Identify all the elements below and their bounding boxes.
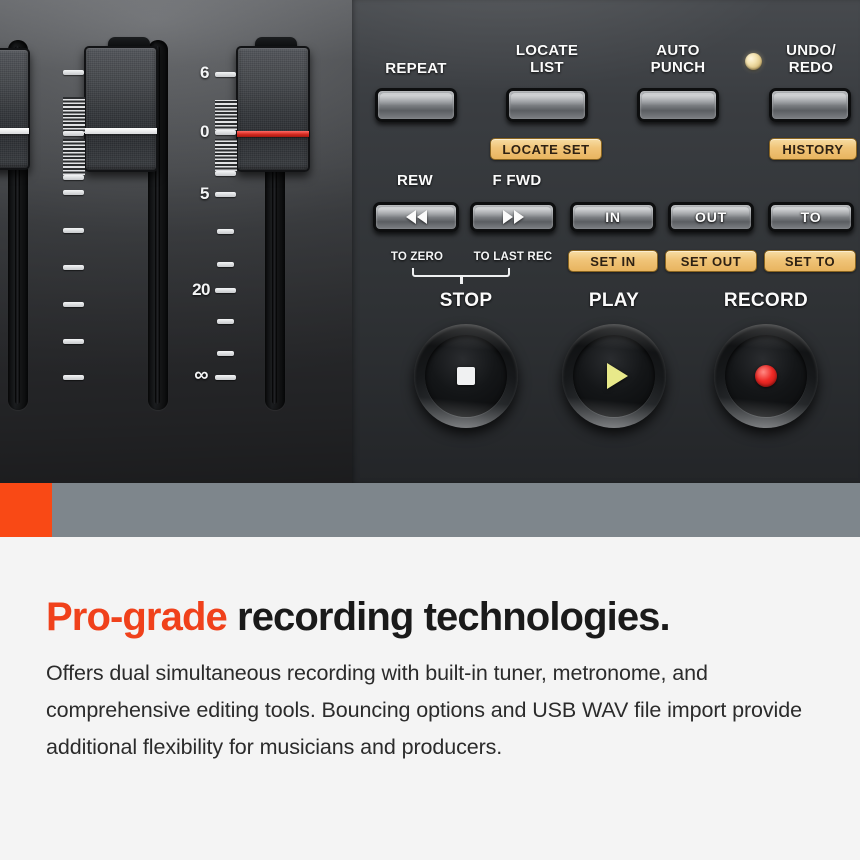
fader-cap-middle[interactable] [84,46,158,172]
fader-tick [217,262,234,267]
button-gloss [774,93,846,105]
undo-redo-label: UNDO/ REDO [764,42,858,76]
auto-punch-label: AUTO PUNCH [626,42,730,76]
fader-scale-label-infinity: ∞ [178,364,208,387]
fader-cap-right[interactable] [236,46,310,172]
fader-tick [217,319,234,324]
fader-cap-texture [87,49,155,169]
play-button[interactable] [562,324,666,428]
fader-index-line-left [0,128,29,134]
undo-redo-led-icon [745,53,762,70]
set-in-tag[interactable]: SET IN [568,250,658,272]
headline-accent: Pro-grade [46,595,227,639]
record-button-inner [725,335,807,417]
fader-tick [63,131,84,136]
to-zero-last-rec-bracket [412,268,510,277]
button-gloss [642,93,714,105]
button-gloss [380,93,452,105]
fader-tick-0 [215,130,236,135]
rew-button[interactable] [373,202,459,232]
fast-forward-icon [473,205,553,229]
fader-hatch-lower [63,139,85,175]
stop-button[interactable] [414,324,518,428]
repeat-button[interactable] [375,88,457,122]
record-icon [755,365,777,387]
fader-cap-texture [0,51,27,167]
fader-tick [63,302,84,307]
fader-index-line-right [237,131,309,137]
fader-tick [217,229,234,234]
undo-redo-button[interactable] [769,88,851,122]
product-photo: 6 0 5 20 ∞ REPEAT LOCATE LIST LOCAT [0,0,860,483]
fader-tick [217,351,234,356]
fader-tick-inf [215,375,236,380]
fader-tick [63,70,84,75]
in-button[interactable]: IN [570,202,656,232]
out-button-text: OUT [671,205,751,229]
fader-tick-5 [215,192,236,197]
stop-icon [457,367,475,385]
fader-tick-20 [215,288,236,293]
to-button-text: TO [771,205,851,229]
locate-set-tag[interactable]: LOCATE SET [490,138,602,160]
ffwd-sub-label: TO LAST REC [463,251,563,263]
stop-label: STOP [418,292,514,309]
play-icon [607,363,628,389]
rew-label: REW [377,172,453,189]
fader-scale-label-5: 5 [185,184,209,204]
accent-band [0,483,860,537]
locate-list-label: LOCATE LIST [495,42,599,76]
record-button[interactable] [714,324,818,428]
record-label: RECORD [706,292,826,309]
accent-band-gray-bar [52,483,860,537]
fader-tick-6 [215,72,236,77]
fader-tick [63,175,84,180]
page-root: 6 0 5 20 ∞ REPEAT LOCATE LIST LOCAT [0,0,860,860]
stop-button-inner [425,335,507,417]
set-out-tag[interactable]: SET OUT [665,250,757,272]
fader-index-line-middle [85,128,157,134]
fader-tick [63,265,84,270]
fader-tick [215,171,236,176]
locate-list-button[interactable] [506,88,588,122]
fader-scale-label-0: 0 [185,122,209,142]
repeat-label: REPEAT [366,60,466,77]
headline-rest: recording technologies. [227,595,670,639]
accent-band-orange-block [0,483,52,537]
page-title: Pro-grade recording technologies. [46,594,836,640]
button-gloss [511,93,583,105]
content-section: Pro-grade recording technologies. Offers… [0,537,860,860]
play-button-inner [573,335,655,417]
fader-hatch-upper [63,97,85,133]
fader-cap-texture [239,49,307,169]
to-button[interactable]: TO [768,202,854,232]
play-label: PLAY [566,292,662,309]
fader-tick [63,339,84,344]
in-button-text: IN [573,205,653,229]
history-tag[interactable]: HISTORY [769,138,857,160]
fader-hatch-lower [215,139,237,171]
ffwd-label: F FWD [473,172,561,189]
bracket-stem [460,277,463,284]
ffwd-button[interactable] [470,202,556,232]
out-button[interactable]: OUT [668,202,754,232]
fader-tick [63,228,84,233]
fader-hatch-upper [215,100,237,130]
fader-tick [63,190,84,195]
fader-scale-label-20: 20 [172,280,210,300]
rewind-icon [376,205,456,229]
fader-scale-label-6: 6 [185,63,209,83]
body-paragraph: Offers dual simultaneous recording with … [46,655,821,766]
auto-punch-button[interactable] [637,88,719,122]
rew-sub-label: TO ZERO [375,251,459,263]
set-to-tag[interactable]: SET TO [764,250,856,272]
fader-cap-left[interactable] [0,48,30,170]
fader-tick [63,375,84,380]
